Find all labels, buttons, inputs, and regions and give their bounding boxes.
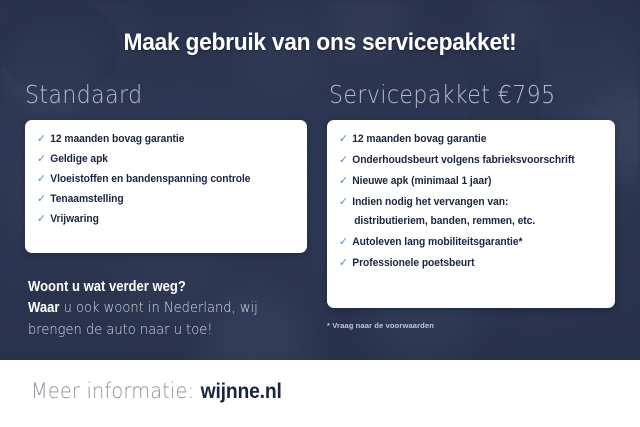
list-item-label: Vloeistoffen en bandenspanning controle bbox=[50, 173, 250, 186]
list-item-label-group: Indien nodig het vervangen van: distribu… bbox=[352, 196, 535, 227]
list-item: ✓ Autoleven lang mobiliteitsgarantie* bbox=[339, 236, 595, 249]
check-icon: ✓ bbox=[339, 257, 348, 269]
page-title: Maak gebruik van ons servicepakket! bbox=[22, 29, 617, 57]
list-item-label: Autoleven lang mobiliteitsgarantie* bbox=[352, 236, 522, 249]
list-item: ✓ Tenaamstelling bbox=[37, 193, 287, 206]
promo-heading: Woont u wat verder weg? bbox=[28, 277, 289, 298]
list-item: ✓ 12 maanden bovag garantie bbox=[339, 133, 595, 146]
list-item: ✓ Professionele poetsbeurt bbox=[339, 257, 595, 270]
standard-feature-list: ✓ 12 maanden bovag garantie ✓ Geldige ap… bbox=[25, 120, 307, 226]
list-item-label: Tenaamstelling bbox=[50, 193, 123, 206]
servicepakket-card: ✓ 12 maanden bovag garantie ✓ Onderhouds… bbox=[327, 120, 615, 308]
promo-body: Waar u ook woont in Nederland, wij bbox=[28, 298, 289, 319]
list-item-label: Indien nodig het vervangen van: bbox=[352, 196, 508, 208]
website-link[interactable]: wijnne.nl bbox=[201, 380, 282, 403]
promo-rest-text: u ook woont in Nederland, wij bbox=[59, 300, 257, 316]
list-item: ✓ Vrijwaring bbox=[37, 213, 287, 226]
check-icon: ✓ bbox=[339, 154, 348, 166]
delivery-promo-text: Woont u wat verder weg? Waar u ook woont… bbox=[28, 277, 289, 341]
promo-lead-word: Waar bbox=[28, 300, 59, 316]
list-item: ✓ Geldige apk bbox=[37, 153, 287, 166]
terms-footnote: * Vraag naar de voorwaarden bbox=[327, 321, 434, 330]
list-item-label: Nieuwe apk (minimaal 1 jaar) bbox=[352, 175, 491, 188]
column-title-servicepakket: Servicepakket €795 bbox=[329, 80, 556, 109]
check-icon: ✓ bbox=[37, 153, 46, 165]
list-item: ✓ 12 maanden bovag garantie bbox=[37, 133, 287, 146]
servicepakket-feature-list: ✓ 12 maanden bovag garantie ✓ Onderhouds… bbox=[327, 120, 615, 269]
list-item-label: Professionele poetsbeurt bbox=[352, 257, 474, 270]
check-icon: ✓ bbox=[37, 213, 46, 225]
check-icon: ✓ bbox=[37, 133, 46, 145]
check-icon: ✓ bbox=[37, 173, 46, 185]
list-item-label: Onderhoudsbeurt volgens fabrieksvoorschr… bbox=[352, 154, 574, 167]
promo-body-line2: brengen de auto naar u toe! bbox=[28, 320, 289, 341]
list-item-sublabel: distributieriem, banden, remmen, etc. bbox=[354, 215, 535, 228]
more-info-label: Meer informatie: bbox=[31, 379, 194, 403]
list-item-label: 12 maanden bovag garantie bbox=[352, 133, 486, 146]
check-icon: ✓ bbox=[339, 236, 348, 248]
list-item: ✓ Indien nodig het vervangen van: distri… bbox=[339, 196, 595, 227]
list-item: ✓ Nieuwe apk (minimaal 1 jaar) bbox=[339, 175, 595, 188]
check-icon: ✓ bbox=[37, 193, 46, 205]
column-title-standard: Standaard bbox=[25, 80, 143, 109]
list-item: ✓ Onderhoudsbeurt volgens fabrieksvoorsc… bbox=[339, 154, 595, 167]
standard-package-card: ✓ 12 maanden bovag garantie ✓ Geldige ap… bbox=[25, 120, 307, 253]
promo-heading-text: Woont u wat verder weg? bbox=[28, 279, 186, 295]
list-item-label: 12 maanden bovag garantie bbox=[50, 133, 184, 146]
check-icon: ✓ bbox=[339, 196, 348, 208]
list-item-label: Geldige apk bbox=[50, 153, 108, 166]
footer-bar: Meer informatie: wijnne.nl AUTOBEDRIJF W… bbox=[0, 360, 640, 427]
service-package-poster: Maak gebruik van ons servicepakket! Stan… bbox=[0, 0, 640, 427]
poster-content: Maak gebruik van ons servicepakket! Stan… bbox=[0, 0, 640, 427]
check-icon: ✓ bbox=[339, 133, 348, 145]
check-icon: ✓ bbox=[339, 175, 348, 187]
list-item: ✓ Vloeistoffen en bandenspanning control… bbox=[37, 173, 287, 186]
list-item-label: Vrijwaring bbox=[50, 213, 99, 226]
more-info-line: Meer informatie: wijnne.nl bbox=[31, 379, 282, 404]
